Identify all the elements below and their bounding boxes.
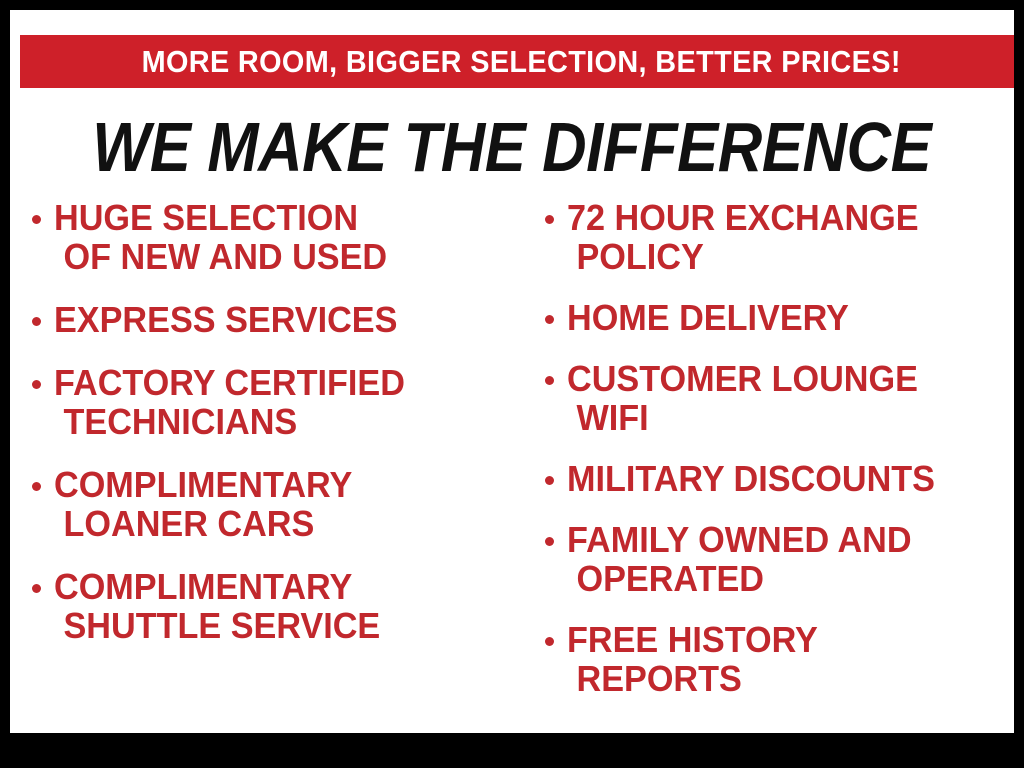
bullet-dot-icon	[32, 482, 41, 491]
page-title: WE MAKE THE DIFFERENCE	[92, 112, 931, 182]
list-item-text: COMPLIMENTARY SHUTTLE SERVICE	[54, 567, 380, 645]
promo-banner: MORE ROOM, BIGGER SELECTION, BETTER PRIC…	[20, 35, 1014, 88]
list-item: FACTORY CERTIFIED TECHNICIANS	[32, 363, 522, 441]
bullet-dot-icon	[545, 376, 554, 385]
list-item-text: 72 HOUR EXCHANGE POLICY	[567, 198, 919, 276]
list-item: HOME DELIVERY	[545, 298, 1014, 337]
list-item-line2: OPERATED	[567, 559, 912, 598]
features-column-right: 72 HOUR EXCHANGE POLICY HOME DELIVERY CU…	[522, 198, 1014, 718]
list-item: COMPLIMENTARY SHUTTLE SERVICE	[32, 567, 522, 645]
list-item-line1: HUGE SELECTION	[54, 197, 358, 238]
list-item-line2: OF NEW AND USED	[54, 237, 387, 276]
list-item-line2: WIFI	[567, 398, 918, 437]
list-item: HUGE SELECTION OF NEW AND USED	[32, 198, 522, 276]
list-item-text: COMPLIMENTARY LOANER CARS	[54, 465, 352, 543]
promo-banner-text: MORE ROOM, BIGGER SELECTION, BETTER PRIC…	[141, 46, 900, 77]
list-item-line1: FACTORY CERTIFIED	[54, 362, 405, 403]
bullet-dot-icon	[545, 315, 554, 324]
list-item-line1: CUSTOMER LOUNGE	[567, 358, 918, 399]
bullet-dot-icon	[545, 637, 554, 646]
list-item-line1: COMPLIMENTARY	[54, 566, 352, 607]
list-item-line2: REPORTS	[567, 659, 818, 698]
bullet-dot-icon	[545, 476, 554, 485]
poster-card: MORE ROOM, BIGGER SELECTION, BETTER PRIC…	[10, 10, 1014, 733]
list-item-line1: EXPRESS SERVICES	[54, 299, 397, 340]
list-item-line2: POLICY	[567, 237, 919, 276]
bullet-dot-icon	[32, 380, 41, 389]
list-item: FREE HISTORY REPORTS	[545, 620, 1014, 698]
list-item-text: FACTORY CERTIFIED TECHNICIANS	[54, 363, 405, 441]
list-item-text: CUSTOMER LOUNGE WIFI	[567, 359, 918, 437]
list-item: EXPRESS SERVICES	[32, 300, 522, 339]
list-item-line2: LOANER CARS	[54, 504, 352, 543]
list-item-text: FREE HISTORY REPORTS	[567, 620, 818, 698]
bullet-dot-icon	[32, 215, 41, 224]
bullet-dot-icon	[32, 317, 41, 326]
features-columns: HUGE SELECTION OF NEW AND USED EXPRESS S…	[10, 198, 1014, 718]
list-item-line2: SHUTTLE SERVICE	[54, 606, 380, 645]
list-item-text: MILITARY DISCOUNTS	[567, 459, 935, 498]
list-item-text: EXPRESS SERVICES	[54, 300, 397, 339]
list-item: CUSTOMER LOUNGE WIFI	[545, 359, 1014, 437]
list-item-text: FAMILY OWNED AND OPERATED	[567, 520, 912, 598]
features-column-left: HUGE SELECTION OF NEW AND USED EXPRESS S…	[10, 198, 522, 718]
list-item: FAMILY OWNED AND OPERATED	[545, 520, 1014, 598]
list-item-line1: COMPLIMENTARY	[54, 464, 352, 505]
headline-container: WE MAKE THE DIFFERENCE	[10, 106, 1014, 188]
list-item-line1: HOME DELIVERY	[567, 297, 849, 338]
list-item: COMPLIMENTARY LOANER CARS	[32, 465, 522, 543]
list-item-line2: TECHNICIANS	[54, 402, 405, 441]
list-item-text: HOME DELIVERY	[567, 298, 849, 337]
list-item: 72 HOUR EXCHANGE POLICY	[545, 198, 1014, 276]
list-item: MILITARY DISCOUNTS	[545, 459, 1014, 498]
list-item-line1: FAMILY OWNED AND	[567, 519, 912, 560]
bullet-dot-icon	[545, 215, 554, 224]
list-item-line1: 72 HOUR EXCHANGE	[567, 197, 919, 238]
bullet-dot-icon	[545, 537, 554, 546]
list-item-line1: FREE HISTORY	[567, 619, 818, 660]
list-item-line1: MILITARY DISCOUNTS	[567, 458, 935, 499]
bullet-dot-icon	[32, 584, 41, 593]
list-item-text: HUGE SELECTION OF NEW AND USED	[54, 198, 387, 276]
advertisement-poster: MORE ROOM, BIGGER SELECTION, BETTER PRIC…	[0, 0, 1024, 768]
